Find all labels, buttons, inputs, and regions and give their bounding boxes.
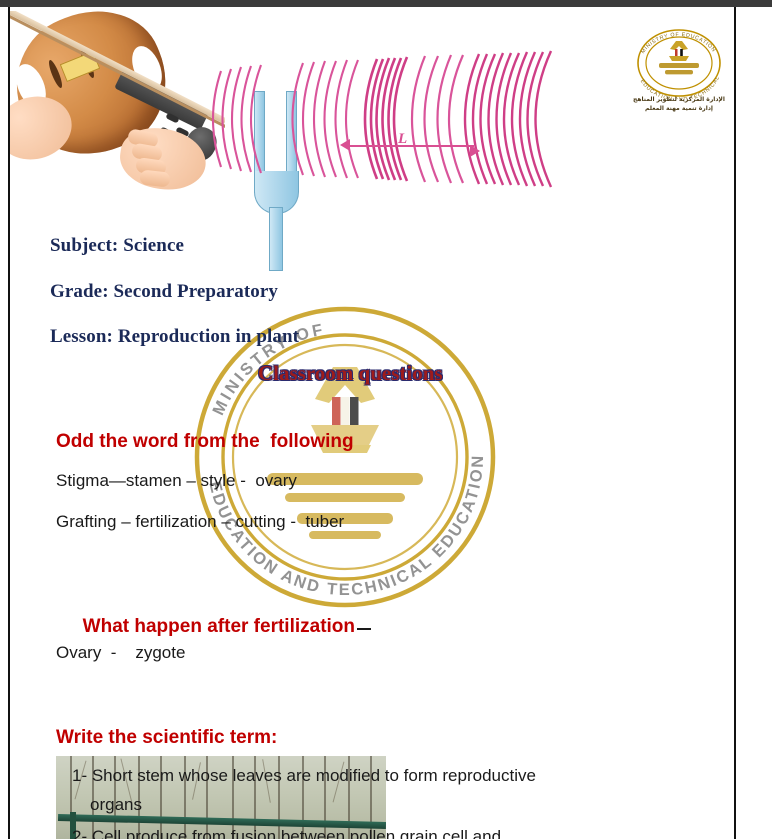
violin-illustration	[10, 11, 225, 209]
slide-canvas: L MINISTRY OF EDUCATION EDUCATION AND TE…	[10, 9, 734, 839]
lesson-line: Lesson: Reproduction in plant	[50, 326, 299, 348]
grade-line: Grade: Second Preparatory	[50, 281, 278, 303]
page-right-border	[734, 7, 736, 839]
slide-title: Classroom questions	[258, 361, 443, 386]
slide-page: L MINISTRY OF EDUCATION EDUCATION AND TE…	[0, 0, 772, 839]
term-line-1: 1- Short stem whose leaves are modified …	[72, 766, 536, 786]
window-top-bar	[0, 0, 772, 7]
sound-wave-arcs	[195, 49, 565, 189]
wavelength-marker: L	[340, 131, 480, 161]
wavelength-label: L	[398, 131, 407, 148]
term-line-1-wrap: organs	[90, 795, 142, 815]
question-heading-after-fertilization-text: What happen after fertilization	[83, 616, 355, 637]
logo-arabic-line-2: إدارة تنمية مهنة المعلم	[623, 104, 734, 113]
logo-arabic-line-1: الإدارة المركزية لتطوير المناهج	[623, 95, 734, 104]
subject-line: Subject: Science	[50, 235, 184, 257]
question-heading-odd-one-out: Odd the word from the following	[56, 431, 354, 453]
ministry-logo: MINISTRY OF EDUCATION EDUCATION AND TECH…	[623, 25, 734, 121]
answer-line-grafting: Grafting – fertilization – cutting - tub…	[56, 512, 344, 532]
answer-line-stigma: Stigma—stamen – style - ovary	[56, 471, 297, 491]
heading-trailing-underline	[357, 628, 371, 630]
question-heading-scientific-term: Write the scientific term:	[56, 727, 277, 749]
term-line-2: 2- Cell produce from fusion between poll…	[72, 827, 501, 839]
header-illustration: L	[10, 9, 570, 214]
answer-line-ovary-zygote: Ovary - zygote	[56, 643, 185, 663]
logo-arabic-caption: الإدارة المركزية لتطوير المناهج إدارة تن…	[623, 95, 734, 113]
